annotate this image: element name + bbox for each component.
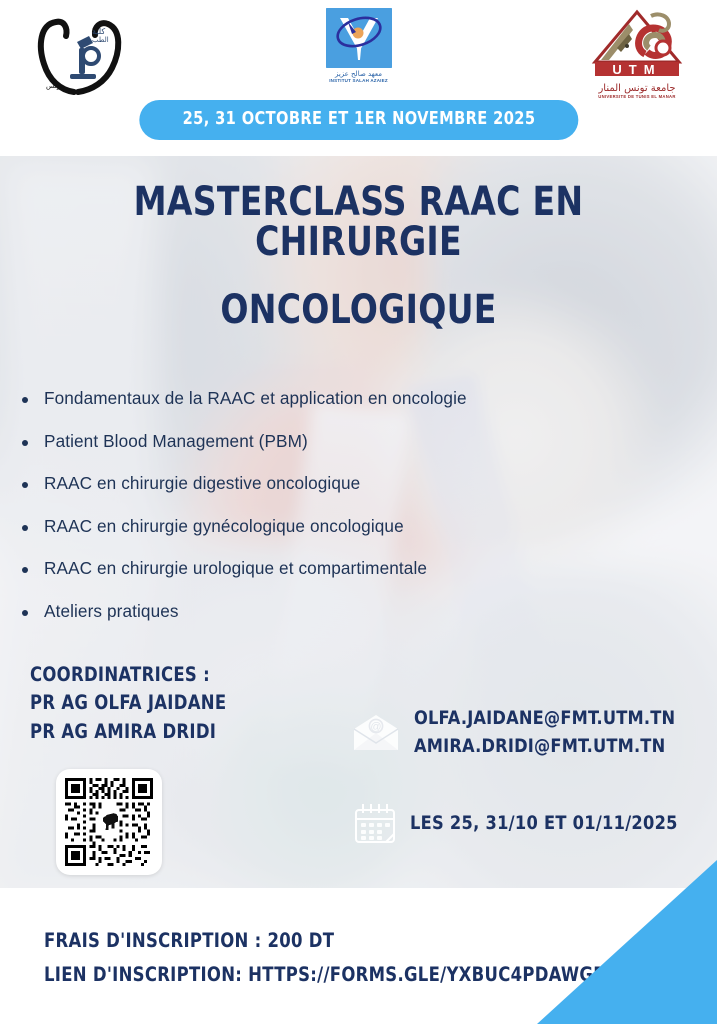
poster-title: MASTERCLASS RAAC EN CHIRURGIE ONCOLOGIQU… [0,182,717,330]
list-item-label: RAAC en chirurgie digestive oncologique [44,473,360,495]
svg-text:UTM: UTM [612,62,661,77]
list-item: RAAC en chirurgie urologique et comparti… [22,558,622,580]
coordinators-heading: COORDINATRICES : [30,661,226,689]
bullet-dot-icon [22,610,28,616]
date-badge-label: 25, 31 OCTOBRE ET 1ER NOVEMBRE 2025 [182,109,535,129]
list-item-label: Fondamentaux de la RAAC et application e… [44,388,467,410]
title-line-1: MASTERCLASS RAAC EN CHIRURGIE [62,182,655,262]
list-item: Ateliers pratiques [22,601,622,623]
svg-text:@: @ [370,721,381,733]
list-item: Patient Blood Management (PBM) [22,431,622,453]
list-item-label: Ateliers pratiques [44,601,179,623]
event-dates-block: LES 25, 31/10 ET 01/11/2025 [352,801,692,845]
utm-caption-arabic: جامعة تونس المنار [598,83,675,94]
svg-text:كلية: كلية [92,27,105,36]
qr-code-card[interactable] [56,769,162,875]
bullet-dot-icon [22,567,28,573]
isa-caption-arabic: معهد صالح عزيز [335,70,382,78]
coordinators-block: COORDINATRICES : PR AG OLFA JAIDANE PR A… [30,661,239,746]
logo-row: كلية الطب بتونس معهد صا [0,8,717,108]
topics-list: Fondamentaux de la RAAC et application e… [22,388,622,643]
utm-emblem-icon: UTM [583,8,691,82]
institut-salah-azaiez-logo: معهد صالح عزيز INSTITUT SALAH AZAIEZ [299,8,419,100]
bullet-dot-icon [22,525,28,531]
registration-fee: FRAIS D'INSCRIPTION : 200 DT [44,924,666,958]
list-item: RAAC en chirurgie gynécologique oncologi… [22,516,622,538]
bullet-dot-icon [22,397,28,403]
faculte-medecine-tunis-logo: كلية الطب بتونس [20,8,140,108]
isa-emblem-icon [326,8,392,68]
poster-root: كلية الطب بتونس معهد صا [0,0,717,1024]
list-item-label: RAAC en chirurgie urologique et comparti… [44,558,427,580]
fmt-logo-icon: كلية الطب بتونس [20,8,140,108]
event-dates-text: LES 25, 31/10 ET 01/11/2025 [410,812,692,834]
qr-code-image[interactable] [65,778,153,866]
list-item-label: RAAC en chirurgie gynécologique oncologi… [44,516,404,538]
calendar-icon [352,801,398,845]
universite-tunis-el-manar-logo: UTM جامعة تونس المنار UNIVERSITE DE TUNI… [577,8,697,108]
main-content: MASTERCLASS RAAC EN CHIRURGIE ONCOLOGIQU… [0,156,717,888]
svg-text:الطب: الطب [92,36,109,44]
email-1[interactable]: OLFA.JAIDANE@FMT.UTM.TN [414,705,675,733]
email-block: @ OLFA.JAIDANE@FMT.UTM.TN AMIRA.DRIDI@FM… [350,705,689,760]
list-item-label: Patient Blood Management (PBM) [44,431,308,453]
date-badge: 25, 31 OCTOBRE ET 1ER NOVEMBRE 2025 [139,100,578,140]
event-dates-label: LES 25, 31/10 ET 01/11/2025 [410,812,678,834]
envelope-at-icon: @ [350,713,402,753]
svg-text:بتونس: بتونس [46,82,65,90]
utm-caption-latin: UNIVERSITE DE TUNIS EL MANAR [598,94,675,99]
list-item: Fondamentaux de la RAAC et application e… [22,388,622,410]
isa-caption-latin: INSTITUT SALAH AZAIEZ [329,78,388,83]
bullet-dot-icon [22,482,28,488]
coordinator-name-2: PR AG AMIRA DRIDI [30,718,226,746]
coordinator-name-1: PR AG OLFA JAIDANE [30,689,226,717]
title-line-2: ONCOLOGIQUE [62,290,655,330]
list-item: RAAC en chirurgie digestive oncologique [22,473,622,495]
email-lines: OLFA.JAIDANE@FMT.UTM.TN AMIRA.DRIDI@FMT.… [414,705,689,760]
bullet-dot-icon [22,440,28,446]
registration-link[interactable]: LIEN D'INSCRIPTION: HTTPS://FORMS.GLE/YX… [44,958,666,992]
email-2[interactable]: AMIRA.DRIDI@FMT.UTM.TN [414,733,675,761]
